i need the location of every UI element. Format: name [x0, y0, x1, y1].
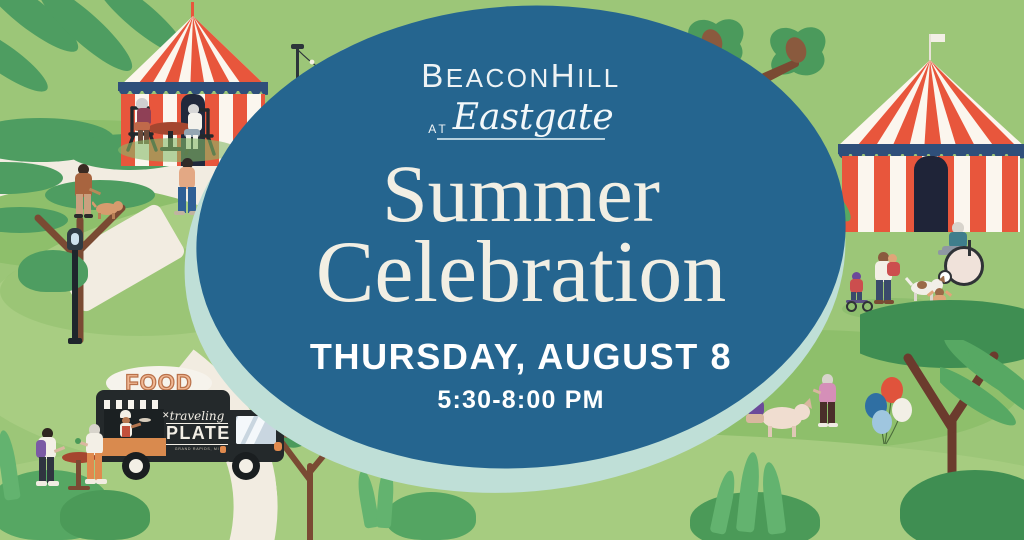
brand-connector: AT [428, 122, 448, 136]
flyer-canvas: FOOD traveling PLATE GRAND RAPI [0, 0, 1024, 540]
bush-bottom-left-2 [60, 490, 150, 540]
brand-sub-lockup: AT Eastgate [421, 100, 620, 136]
truck-wheel-rear [122, 452, 150, 480]
brand-community: Eastgate [453, 100, 614, 136]
brand-name: BEACONHILL [421, 59, 620, 92]
brand-name-h: H [551, 57, 577, 94]
flyer-content: BEACONHILL AT Eastgate Summer Celebratio… [196, 6, 846, 468]
brand-name-ill: ILL [577, 63, 621, 93]
brand-name-eacon: EACON [446, 63, 551, 93]
dog-icon [92, 200, 126, 220]
utensils-icon: ✕ [162, 410, 170, 421]
event-date: THURSDAY, AUGUST 8 [310, 336, 732, 378]
brand-name-b: B [421, 57, 446, 94]
brand-underline-rule [437, 138, 605, 140]
title-line-2: Celebration [316, 232, 727, 314]
event-time: 5:30-8:00 PM [437, 386, 604, 415]
brand-lockup: BEACONHILL AT Eastgate [421, 59, 620, 140]
page-title: Summer Celebration [316, 156, 727, 314]
